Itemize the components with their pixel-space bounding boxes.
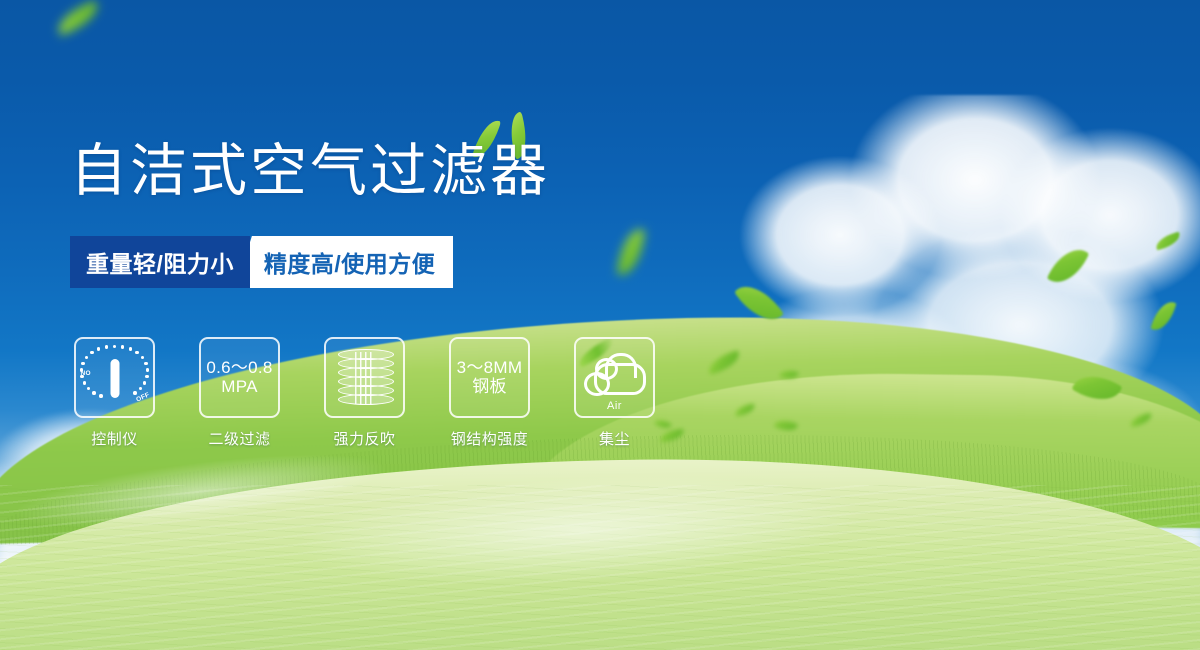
feature-item-dust[interactable]: Air 集尘 <box>574 337 655 449</box>
steel-thickness: 3〜8MM <box>457 359 523 377</box>
pressure-text-icon: 0.6〜0.8 MPA <box>206 359 272 396</box>
cloud-shape-small <box>584 372 610 396</box>
gauge-label-off: OFF <box>135 391 151 403</box>
gauge-label-no: NO <box>81 370 91 377</box>
feature-label: 控制仪 <box>91 428 138 449</box>
air-label: Air <box>584 400 646 412</box>
gauge-dial-icon: NO OFF <box>80 343 150 413</box>
pressure-unit: MPA <box>206 378 272 396</box>
feature-icon-box: NO OFF <box>74 337 155 418</box>
page-title: 自洁式空气过滤器 <box>70 143 550 200</box>
hero-banner: 自洁式空气过滤器 重量轻/阻力小 精度高/使用方便 <box>0 0 1200 650</box>
pressure-value: 0.6〜0.8 <box>206 359 272 377</box>
feature-icon-box: 0.6〜0.8 MPA <box>199 337 280 418</box>
feature-icon-box: 3〜8MM 钢板 <box>449 337 530 418</box>
feature-item-backblow[interactable]: 强力反吹 <box>324 337 405 449</box>
feature-item-controller[interactable]: NO OFF 控制仪 <box>74 337 155 449</box>
gauge-needle-icon <box>110 359 119 398</box>
steel-material: 钢板 <box>457 378 523 396</box>
tagline-secondary: 精度高/使用方便 <box>236 236 453 288</box>
steel-plate-text-icon: 3〜8MM 钢板 <box>457 359 523 396</box>
feature-icon-box: Air <box>574 337 655 418</box>
air-cloud-icon: Air <box>584 350 646 406</box>
tagline-bar: 重量轻/阻力小 精度高/使用方便 <box>70 236 453 288</box>
feature-label: 钢结构强度 <box>451 428 529 449</box>
feature-list: NO OFF 控制仪 0.6〜0.8 MPA 二级过滤 <box>74 337 655 449</box>
filter-coil-icon <box>338 349 392 407</box>
tagline-primary: 重量轻/阻力小 <box>70 236 250 288</box>
feature-label: 集尘 <box>599 428 630 449</box>
feature-label: 强力反吹 <box>333 428 395 449</box>
feature-label: 二级过滤 <box>208 428 270 449</box>
feature-item-steel[interactable]: 3〜8MM 钢板 钢结构强度 <box>449 337 530 449</box>
feature-icon-box <box>324 337 405 418</box>
feature-item-pressure[interactable]: 0.6〜0.8 MPA 二级过滤 <box>199 337 280 449</box>
